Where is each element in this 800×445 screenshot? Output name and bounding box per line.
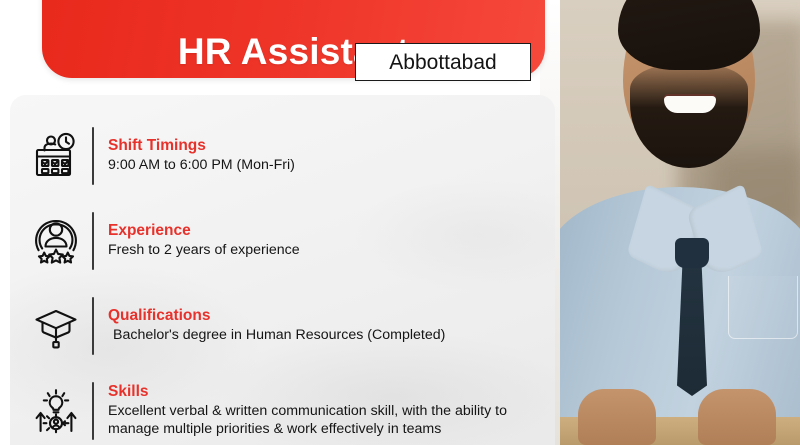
- detail-heading: Qualifications: [108, 307, 555, 325]
- detail-row-shift-timings: Shift Timings 9:00 AM to 6:00 PM (Mon-Fr…: [10, 113, 555, 198]
- person-hand-left: [578, 389, 656, 445]
- detail-row-qualifications: Qualifications Bachelor's degree in Huma…: [10, 283, 555, 368]
- location-label: Abbottabad: [389, 52, 496, 73]
- detail-row-experience: Experience Fresh to 2 years of experienc…: [10, 198, 555, 283]
- row-divider: [92, 212, 94, 270]
- detail-row-skills: Skills Excellent verbal & written commun…: [10, 368, 555, 445]
- lightbulb-gear-arrows-icon: [28, 382, 84, 440]
- row-divider: [92, 297, 94, 355]
- details-card: Shift Timings 9:00 AM to 6:00 PM (Mon-Fr…: [10, 95, 555, 445]
- detail-heading: Shift Timings: [108, 137, 555, 155]
- detail-text: Fresh to 2 years of experience: [108, 241, 555, 259]
- calendar-clock-people-icon: [28, 127, 84, 185]
- detail-row-body: Skills Excellent verbal & written commun…: [108, 383, 555, 438]
- detail-row-body: Shift Timings 9:00 AM to 6:00 PM (Mon-Fr…: [108, 137, 555, 174]
- candidate-photo: [560, 0, 800, 445]
- necktie-knot: [675, 238, 709, 268]
- person-hand-right: [698, 389, 776, 445]
- detail-text: Bachelor's degree in Human Resources (Co…: [108, 326, 555, 344]
- detail-row-body: Experience Fresh to 2 years of experienc…: [108, 222, 555, 259]
- person-stars-icon: [28, 212, 84, 270]
- graduation-cap-icon: [28, 297, 84, 355]
- person-smile: [664, 96, 716, 113]
- detail-row-body: Qualifications Bachelor's degree in Huma…: [108, 307, 555, 344]
- job-post-poster: Shift Timings 9:00 AM to 6:00 PM (Mon-Fr…: [0, 0, 800, 445]
- detail-heading: Skills: [108, 383, 555, 401]
- detail-heading: Experience: [108, 222, 555, 240]
- detail-text: 9:00 AM to 6:00 PM (Mon-Fri): [108, 156, 555, 174]
- detail-text: Excellent verbal & written communication…: [108, 402, 555, 438]
- row-divider: [92, 127, 94, 185]
- details-row-list: Shift Timings 9:00 AM to 6:00 PM (Mon-Fr…: [10, 95, 555, 445]
- row-divider: [92, 382, 94, 440]
- person-hair: [618, 0, 760, 70]
- location-badge: Abbottabad: [355, 43, 531, 81]
- shirt-pocket: [728, 276, 798, 339]
